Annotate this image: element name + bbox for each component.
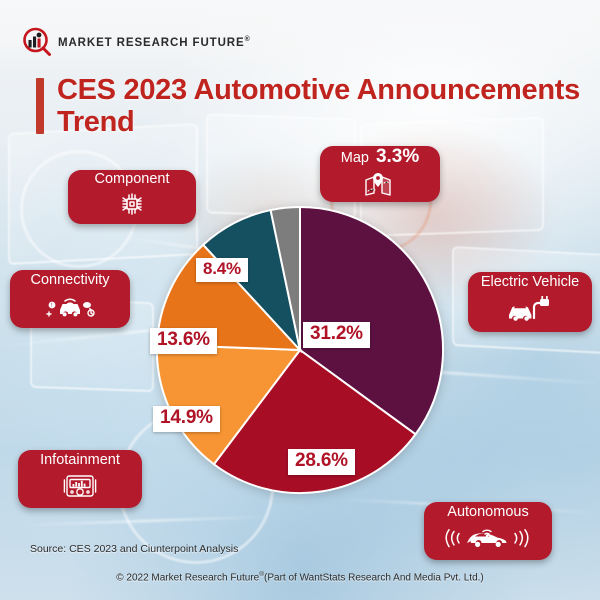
brand-logo: MARKET RESEARCH FUTURE® bbox=[22, 27, 251, 57]
svg-text:!: ! bbox=[51, 303, 52, 309]
pct-label-electric-vehicle: 31.2% bbox=[303, 322, 370, 348]
pct-label-connectivity: 13.6% bbox=[150, 328, 217, 354]
chip-autonomous-label: Autonomous bbox=[447, 505, 528, 521]
chip-infotainment[interactable]: Infotainment bbox=[18, 450, 142, 508]
chip-map[interactable]: Map 3.3% bbox=[320, 146, 440, 202]
microchip-icon bbox=[117, 192, 147, 221]
page-title-block: CES 2023 Automotive Announcements Trend bbox=[36, 74, 596, 139]
chip-map-head: Map 3.3% bbox=[341, 146, 420, 168]
chip-component[interactable]: Component bbox=[68, 170, 196, 224]
page-title: CES 2023 Automotive Announcements Trend bbox=[57, 74, 596, 139]
car-stereo-icon bbox=[61, 473, 99, 504]
chip-autonomous[interactable]: Autonomous bbox=[424, 502, 552, 560]
chip-connectivity-label: Connectivity bbox=[31, 273, 110, 289]
brand-logo-text: MARKET RESEARCH FUTURE® bbox=[58, 36, 251, 49]
brand-logo-label: MARKET RESEARCH FUTURE bbox=[58, 36, 245, 48]
copyright-note: © 2022 Market Research Future®(Part of W… bbox=[0, 571, 600, 583]
magnifier-bar-chart-icon bbox=[22, 27, 52, 57]
connected-car-icon: ! bbox=[38, 293, 102, 324]
ev-charging-car-icon bbox=[504, 295, 556, 328]
chip-electric-vehicle[interactable]: Electric Vehicle bbox=[468, 272, 592, 332]
brand-logo-registered: ® bbox=[245, 36, 251, 43]
pct-label-infotainment: 14.9% bbox=[153, 406, 220, 432]
chip-component-label: Component bbox=[95, 172, 170, 188]
source-note: Source: CES 2023 and Ciunterpoint Analys… bbox=[30, 543, 238, 555]
copyright-post: (Part of WantStats Research And Media Pv… bbox=[264, 572, 484, 583]
title-accent-bar bbox=[36, 78, 44, 134]
pct-label-component: 8.4% bbox=[196, 258, 248, 282]
autonomous-car-icon bbox=[445, 525, 531, 556]
chip-electric-vehicle-label: Electric Vehicle bbox=[481, 275, 579, 291]
chip-infotainment-label: Infotainment bbox=[40, 453, 120, 469]
chip-map-label: Map bbox=[341, 151, 369, 167]
pct-label-autonomous: 28.6% bbox=[288, 449, 355, 475]
chip-connectivity[interactable]: Connectivity ! bbox=[10, 270, 130, 328]
copyright-pre: © 2022 Market Research Future bbox=[116, 572, 259, 583]
map-pin-icon bbox=[363, 172, 397, 201]
chip-map-pct: 3.3% bbox=[376, 146, 419, 168]
